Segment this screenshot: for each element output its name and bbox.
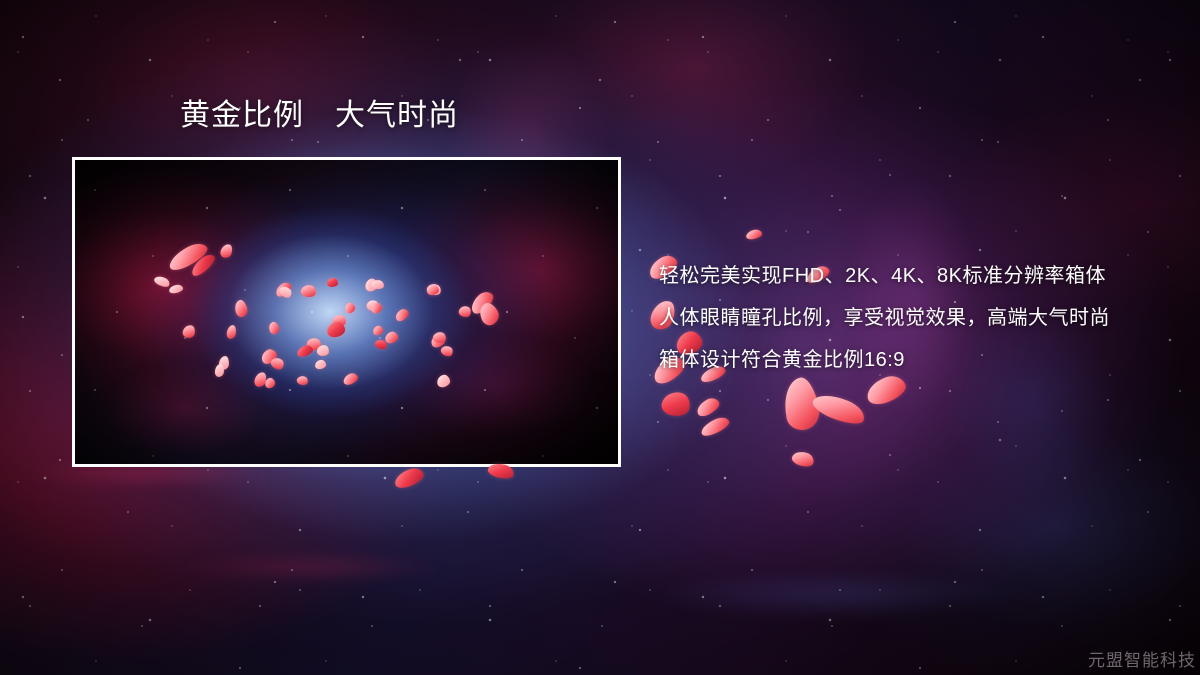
presentation-slide: 黄金比例 大气时尚 [0, 0, 1200, 675]
body-line-2: 人体眼睛瞳孔比例，享受视觉效果，高端大气时尚 [659, 297, 1179, 339]
watermark: 元盟智能科技 [1088, 646, 1196, 671]
page-title: 黄金比例 大气时尚 [180, 101, 459, 131]
body-copy: 轻松完美实现FHD、2K、4K、8K标准分辨率箱体 人体眼睛瞳孔比例，享受视觉效… [659, 255, 1179, 381]
petal [327, 278, 338, 287]
body-line-3: 箱体设计符合黄金比例16:9 [659, 339, 1179, 381]
framed-image-panel [72, 157, 621, 467]
body-line-1: 轻松完美实现FHD、2K、4K、8K标准分辨率箱体 [659, 255, 1179, 297]
